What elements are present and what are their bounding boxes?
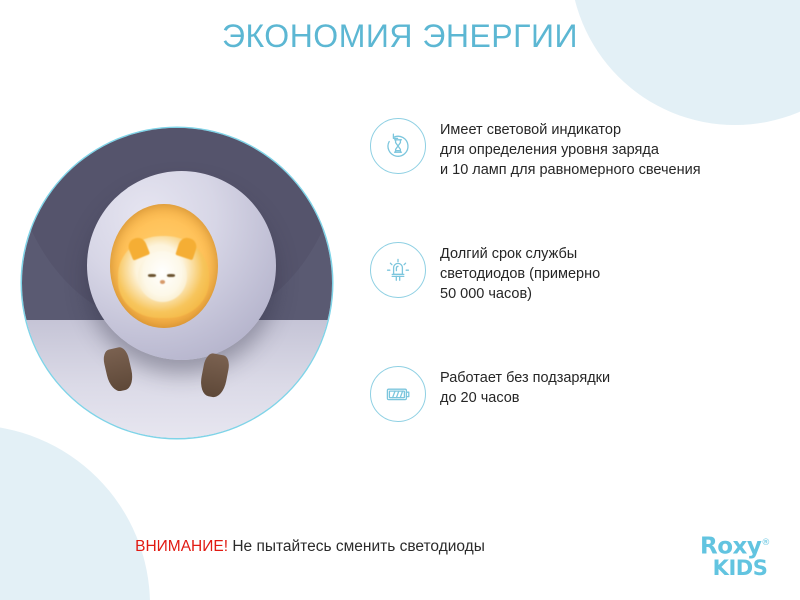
product-photo [22, 128, 332, 438]
feature-line: и 10 ламп для равномерного свечения [440, 160, 701, 180]
feature-item: Долгий срок службы светодиодов (примерно… [370, 242, 790, 304]
led-bulb-icon [370, 242, 426, 298]
warning-body: Не пытайтесь сменить светодиоды [228, 538, 485, 555]
kitten-nose [160, 280, 165, 284]
brand-logo-line2: KIDS [700, 558, 792, 579]
feature-text: Работает без подзарядки до 20 часов [440, 366, 610, 408]
warning-message: ВНИМАНИЕ! Не пытайтесь сменить светодиод… [0, 538, 620, 556]
hourglass-refresh-icon [370, 118, 426, 174]
kitten-figure [118, 236, 209, 318]
feature-text: Имеет световой индикатор для определения… [440, 118, 701, 180]
brand-logo: Roxy® KIDS [700, 532, 792, 578]
photo-background [22, 128, 332, 438]
feature-item: Работает без подзарядки до 20 часов [370, 366, 790, 422]
feature-item: Имеет световой индикатор для определения… [370, 118, 790, 180]
feature-line: Имеет световой индикатор [440, 120, 701, 140]
feature-list: Имеет световой индикатор для определения… [370, 118, 790, 422]
feature-line: 50 000 часов) [440, 284, 600, 304]
kitten-eye-right [167, 274, 175, 277]
lamp-sphere-body [87, 171, 276, 360]
slide-root: ЭКОНОМИЯ ЭНЕРГИИ [0, 0, 800, 600]
feature-line: для определения уровня заряда [440, 140, 701, 160]
feature-line: Долгий срок службы [440, 244, 600, 264]
feature-line: Работает без подзарядки [440, 368, 610, 388]
registered-trademark-icon: ® [761, 538, 770, 548]
kitten-face [138, 251, 187, 302]
feature-text: Долгий срок службы светодиодов (примерно… [440, 242, 600, 304]
kitten-ear-right [176, 235, 199, 259]
lamp-glowing-opening [110, 204, 218, 329]
kitten-eye-left [148, 274, 156, 277]
warning-accent: ВНИМАНИЕ! [135, 538, 228, 555]
brand-logo-line1: Roxy® [700, 532, 792, 558]
page-title: ЭКОНОМИЯ ЭНЕРГИИ [0, 18, 800, 55]
feature-line: светодиодов (примерно [440, 264, 600, 284]
decorative-arc-bottom-left [0, 425, 150, 600]
feature-line: до 20 часов [440, 388, 610, 408]
battery-icon [370, 366, 426, 422]
